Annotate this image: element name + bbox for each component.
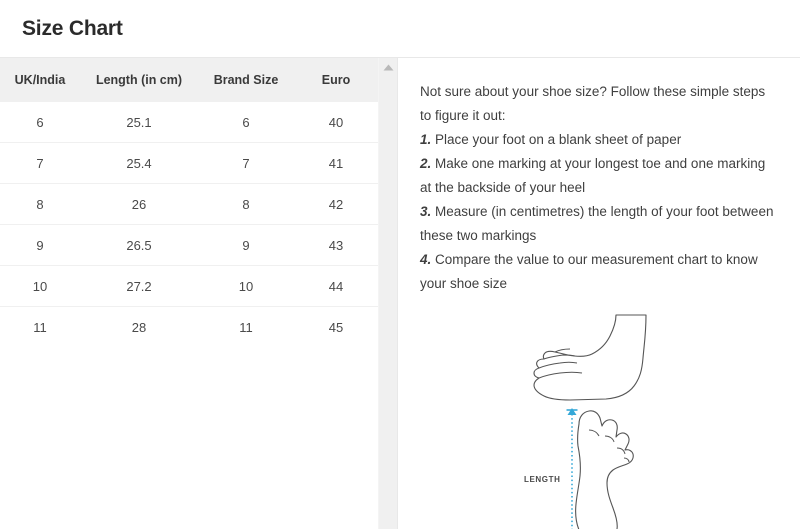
size-chart-modal: Size Chart UK/India Length (in cm) Brand… xyxy=(0,0,800,529)
step-number: 2. xyxy=(420,156,431,171)
cell-euro: 43 xyxy=(294,225,378,266)
table-body: 6 25.1 6 40 7 25.4 7 41 8 26 8 xyxy=(0,102,378,347)
step-text: Measure (in centimetres) the length of y… xyxy=(420,204,773,243)
instruction-step-4: 4. Compare the value to our measurement … xyxy=(420,248,776,296)
table-row: 11 28 11 45 xyxy=(0,307,378,348)
table-header: UK/India Length (in cm) Brand Size Euro xyxy=(0,58,378,102)
table-row: 7 25.4 7 41 xyxy=(0,143,378,184)
instruction-step-1: 1. Place your foot on a blank sheet of p… xyxy=(420,128,776,152)
cell-uk-india: 6 xyxy=(0,102,80,143)
cell-length: 28 xyxy=(80,307,198,348)
cell-length: 26.5 xyxy=(80,225,198,266)
step-number: 3. xyxy=(420,204,431,219)
foot-side-view-icon xyxy=(530,312,650,404)
cell-euro: 40 xyxy=(294,102,378,143)
cell-length: 26 xyxy=(80,184,198,225)
column-header-length: Length (in cm) xyxy=(80,58,198,102)
foot-measurement-diagram: LENGTH xyxy=(420,312,776,529)
instruction-step-3: 3. Measure (in centimetres) the length o… xyxy=(420,200,776,248)
modal-body: UK/India Length (in cm) Brand Size Euro … xyxy=(0,57,800,529)
size-table: UK/India Length (in cm) Brand Size Euro … xyxy=(0,58,378,347)
instruction-step-2: 2. Make one marking at your longest toe … xyxy=(420,152,776,200)
cell-euro: 41 xyxy=(294,143,378,184)
cell-brand-size: 9 xyxy=(198,225,294,266)
table-row: 8 26 8 42 xyxy=(0,184,378,225)
step-text: Compare the value to our measurement cha… xyxy=(420,252,758,291)
cell-uk-india: 7 xyxy=(0,143,80,184)
cell-brand-size: 8 xyxy=(198,184,294,225)
cell-brand-size: 7 xyxy=(198,143,294,184)
table-row: 6 25.1 6 40 xyxy=(0,102,378,143)
step-number: 1. xyxy=(420,132,431,147)
table-row: 9 26.5 9 43 xyxy=(0,225,378,266)
cell-euro: 42 xyxy=(294,184,378,225)
step-number: 4. xyxy=(420,252,431,267)
column-header-euro: Euro xyxy=(294,58,378,102)
table-row: 10 27.2 10 44 xyxy=(0,266,378,307)
cell-brand-size: 6 xyxy=(198,102,294,143)
column-header-uk-india: UK/India xyxy=(0,58,80,102)
cell-uk-india: 9 xyxy=(0,225,80,266)
cell-length: 25.1 xyxy=(80,102,198,143)
size-guide-pane: Not sure about your shoe size? Follow th… xyxy=(397,58,800,529)
length-measure-arrow-icon xyxy=(565,408,579,529)
cell-uk-india: 8 xyxy=(0,184,80,225)
size-table-pane: UK/India Length (in cm) Brand Size Euro … xyxy=(0,58,397,529)
table-scrollbar[interactable] xyxy=(378,58,397,529)
cell-euro: 44 xyxy=(294,266,378,307)
cell-uk-india: 10 xyxy=(0,266,80,307)
table-header-row: UK/India Length (in cm) Brand Size Euro xyxy=(0,58,378,102)
cell-brand-size: 11 xyxy=(198,307,294,348)
instructions-intro: Not sure about your shoe size? Follow th… xyxy=(420,80,776,128)
cell-euro: 45 xyxy=(294,307,378,348)
caret-up-icon[interactable] xyxy=(379,64,397,71)
column-header-brand-size: Brand Size xyxy=(198,58,294,102)
modal-header: Size Chart xyxy=(0,0,800,57)
cell-length: 27.2 xyxy=(80,266,198,307)
cell-uk-india: 11 xyxy=(0,307,80,348)
cell-length: 25.4 xyxy=(80,143,198,184)
step-text: Make one marking at your longest toe and… xyxy=(420,156,765,195)
length-label: LENGTH xyxy=(524,475,561,484)
measurement-instructions: Not sure about your shoe size? Follow th… xyxy=(420,80,776,296)
step-text: Place your foot on a blank sheet of pape… xyxy=(435,132,681,147)
cell-brand-size: 10 xyxy=(198,266,294,307)
page-title: Size Chart xyxy=(22,16,800,42)
